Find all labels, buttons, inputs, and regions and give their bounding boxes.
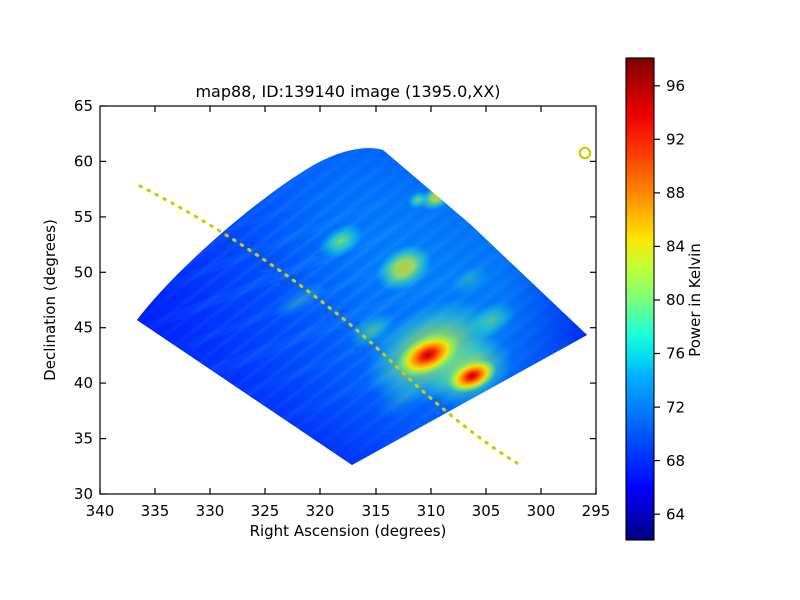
- colorbar-tick-label: 96: [666, 77, 685, 95]
- x-tick-label: 340: [86, 502, 115, 520]
- colorbar-tick-label: 76: [666, 345, 685, 363]
- colorbar-gradient: [626, 58, 654, 540]
- y-tick-label: 40: [74, 374, 93, 392]
- y-axis-label: Declination (degrees): [41, 219, 59, 381]
- x-tick-label: 335: [141, 502, 170, 520]
- colorbar-tick-label: 84: [666, 238, 685, 256]
- y-tick-label: 30: [74, 485, 93, 503]
- x-tick-label: 315: [362, 502, 391, 520]
- y-tick-label: 50: [74, 263, 93, 281]
- colorbar-tick-label: 72: [666, 398, 685, 416]
- x-axis-label: Right Ascension (degrees): [250, 522, 447, 540]
- colorbar-tick-label: 88: [666, 184, 685, 202]
- colorbar-tick-label: 92: [666, 131, 685, 149]
- y-tick-label: 35: [74, 430, 93, 448]
- colorbar-tick-label: 80: [666, 291, 685, 309]
- x-tick-label: 295: [582, 502, 611, 520]
- y-tick-label: 45: [74, 319, 93, 337]
- x-tick-label: 310: [417, 502, 446, 520]
- y-tick-label: 55: [74, 208, 93, 226]
- colorbar-tick-labels: 64 68 72 76 80 84 88 92 96: [666, 77, 685, 523]
- colorbar-tick-label: 68: [666, 452, 685, 470]
- colorbar-tick-label: 64: [666, 505, 685, 523]
- x-tick-label: 320: [306, 502, 335, 520]
- colorbar-label: Power in Kelvin: [686, 243, 704, 357]
- x-tick-label: 300: [527, 502, 556, 520]
- plot-title: map88, ID:139140 image (1395.0,XX): [195, 82, 500, 101]
- x-tick-label: 305: [472, 502, 501, 520]
- x-tick-label: 330: [196, 502, 225, 520]
- y-tick-label: 65: [74, 97, 93, 115]
- y-tick-label: 60: [74, 152, 93, 170]
- sky-map-figure: map88, ID:139140 image (1395.0,XX): [0, 0, 800, 600]
- x-tick-label: 325: [251, 502, 280, 520]
